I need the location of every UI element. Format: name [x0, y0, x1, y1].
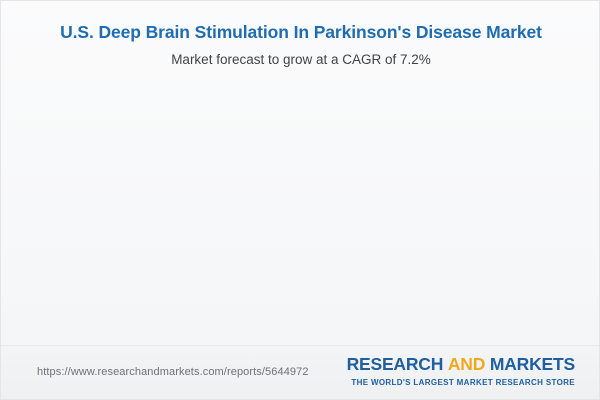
logo-tagline: THE WORLD'S LARGEST MARKET RESEARCH STOR… — [347, 379, 575, 387]
logo-word-markets: MARKETS — [490, 354, 575, 374]
plot-area: USD 556.79 Million — [1, 1, 600, 346]
logo-word-and: AND — [448, 354, 485, 374]
chart-footer: https://www.researchandmarkets.com/repor… — [1, 345, 599, 399]
report-url[interactable]: https://www.researchandmarkets.com/repor… — [37, 366, 309, 378]
logo-word-research: RESEARCH — [347, 354, 444, 374]
logo-wordmark: RESEARCH AND MARKETS — [347, 356, 575, 374]
research-and-markets-logo[interactable]: RESEARCH AND MARKETS THE WORLD'S LARGEST… — [347, 356, 575, 387]
chart-canvas: U.S. Deep Brain Stimulation In Parkinson… — [0, 0, 600, 400]
